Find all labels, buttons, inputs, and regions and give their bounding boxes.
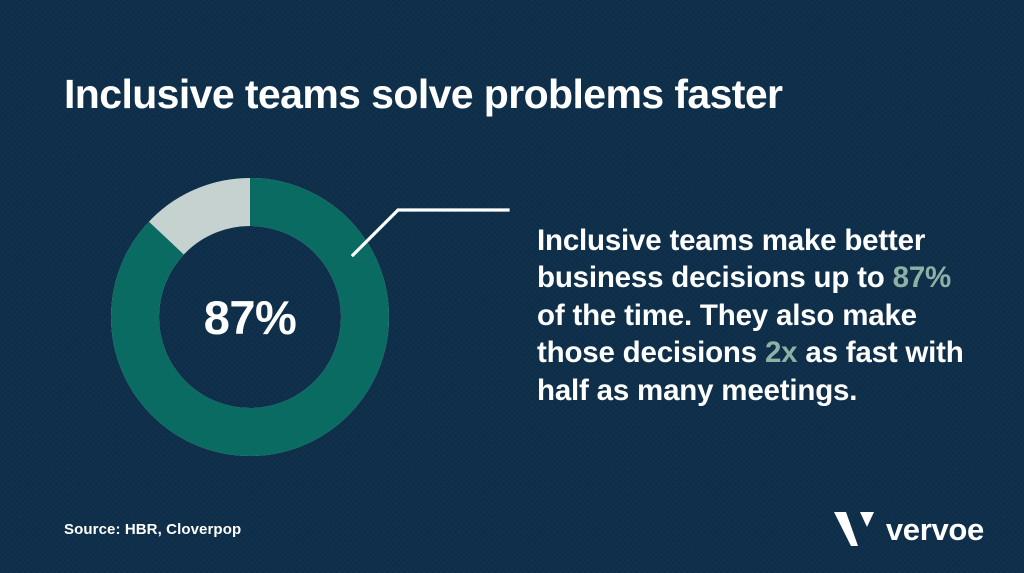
- body-text: Inclusive teams make better business dec…: [537, 222, 982, 410]
- source-credit: Source: HBR, Cloverpop: [64, 521, 241, 538]
- body-segment-1: Inclusive teams make better business dec…: [537, 224, 925, 295]
- infographic-slide: Inclusive teams solve problems faster 87…: [0, 0, 1024, 573]
- vervoe-logo: vervoe: [834, 508, 984, 550]
- vervoe-wordmark: vervoe: [886, 514, 984, 545]
- body-accent-2x: 2x: [765, 336, 797, 369]
- page-title: Inclusive teams solve problems faster: [64, 69, 944, 119]
- vervoe-v-mark-icon: [834, 511, 874, 547]
- callout-leader-line: [340, 195, 530, 270]
- body-accent-87: 87%: [893, 261, 951, 294]
